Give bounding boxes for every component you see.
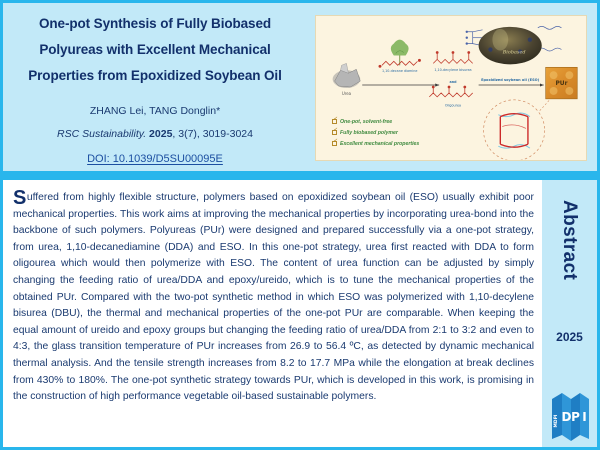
svg-text:Epoxidized soybean oil (ESO): Epoxidized soybean oil (ESO) [481,78,540,82]
ga-bullet-1: One-pot, solvent-free [332,117,419,128]
svg-text:PUr: PUr [555,81,567,87]
journal-citation: RSC Sustainability. 2025, 3(7), 3019-302… [57,128,253,140]
section-divider [3,171,597,180]
bisurea-structure [433,52,472,64]
journal-volume-pages: , 3(7), 3019-3024 [172,128,253,140]
network-zoom-circle [484,100,550,160]
poster-card: One-pot Synthesis of Fully Biobased Poly… [0,0,600,450]
ga-bullet-2: Fully biobased polymer [332,128,419,139]
svg-text:P: P [571,410,580,424]
body-section: Suffered from highly flexible structure,… [3,180,597,447]
svg-text:Oligourea: Oligourea [445,104,461,108]
doi-link[interactable]: DOI: 10.1039/D5SU00095E [87,153,223,165]
svg-text:1,10-decane diamine: 1,10-decane diamine [382,69,417,73]
abstract-vertical-label: Abstract [542,188,597,293]
journal-year: 2025 [149,128,172,140]
header-banner: One-pot Synthesis of Fully Biobased Poly… [3,3,597,171]
svg-text:and: and [449,80,457,84]
svg-text:D: D [562,410,572,424]
journal-name: RSC Sustainability. [57,128,146,140]
abstract-paragraph: Suffered from highly flexible structure,… [13,190,534,406]
abstract-column: Suffered from highly flexible structure,… [3,180,542,447]
soybean-photo [479,27,542,64]
abstract-body-text: uffered from highly flexible structure, … [13,192,534,402]
abstract-dropcap: S [13,190,27,206]
urea-reactant-icon: Urea [333,63,361,96]
page-title-line-3: Properties from Epoxidized Soybean Oil [28,63,282,89]
check-icon [332,141,337,146]
pur-product-icon: PUr [546,67,578,99]
page-title-line-1: One-pot Synthesis of Fully Biobased [39,11,271,37]
svg-text:MDPI: MDPI [553,414,559,427]
year-badge: 2025 [542,330,597,344]
svg-text:1,10-decylene bisurea: 1,10-decylene bisurea [434,68,471,72]
mdpi-logo: MDPI D P I [550,385,590,441]
author-list: ZHANG Lei, TANG Donglin* [90,105,220,117]
check-icon [332,130,337,135]
header-text-block: One-pot Synthesis of Fully Biobased Poly… [3,3,303,171]
graphical-abstract[interactable]: Urea 1,10-decane diamine [315,15,587,161]
svg-text:Urea: Urea [342,91,352,96]
svg-text:I: I [582,410,586,424]
oligourea-structure [429,86,472,97]
svg-text:Biobased: Biobased [502,49,526,55]
check-icon [332,119,337,124]
page-title-line-2: Polyureas with Excellent Mechanical [39,37,270,63]
right-sidebar: Abstract 2025 MDPI D P I [542,180,597,447]
ga-bullet-3: Excellent mechanical properties [332,139,419,150]
graphical-abstract-bullets: One-pot, solvent-free Fully biobased pol… [332,117,419,150]
